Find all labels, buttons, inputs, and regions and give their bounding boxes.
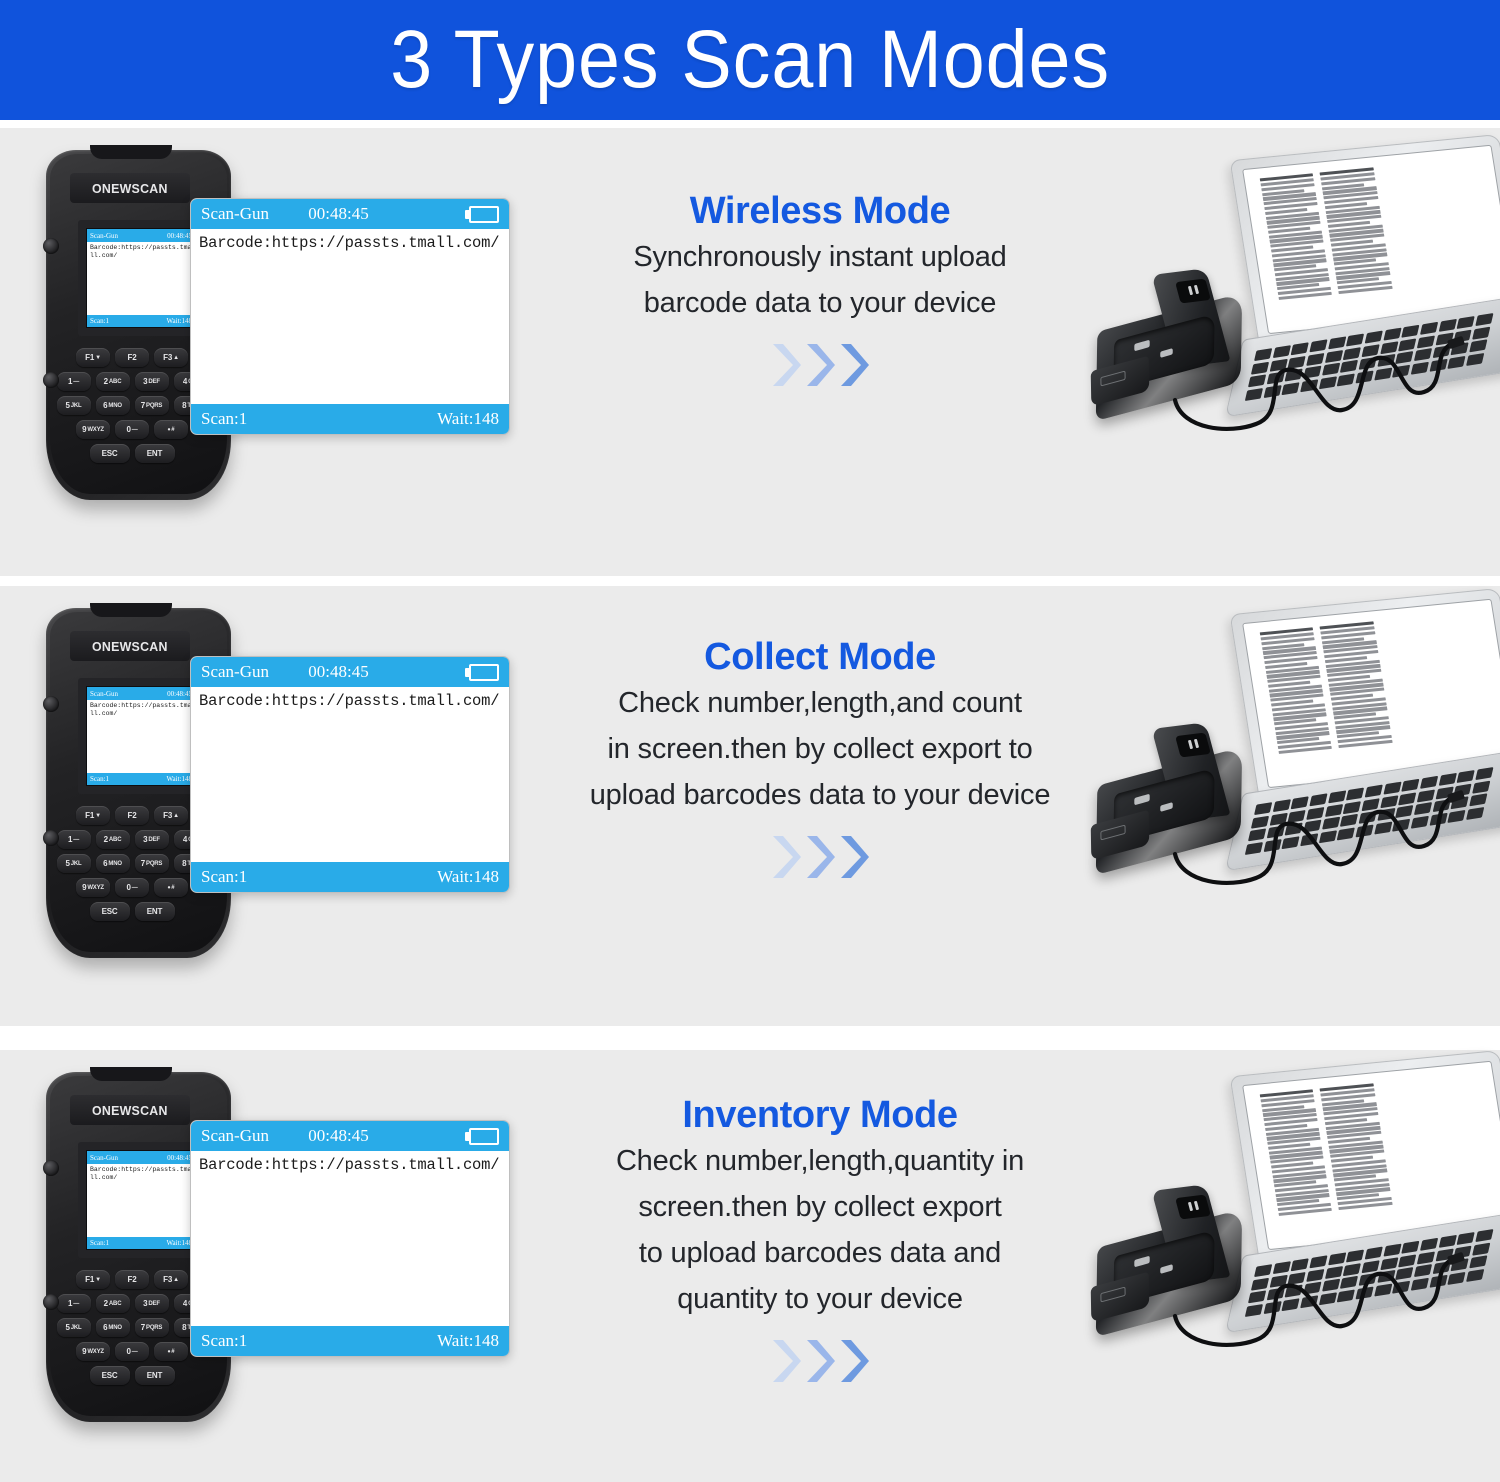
laptop-key (1429, 1275, 1447, 1288)
callout-header: Scan-Gun00:48:45 (191, 199, 509, 229)
device-lcd-barcode-text: Barcode:https://passts.tmall.com/ (87, 1164, 195, 1184)
key-0[interactable]: 0— (115, 1342, 149, 1361)
key-1[interactable]: 1— (57, 372, 91, 391)
key-label: 5 (66, 1323, 70, 1332)
enlarged-screen-callout: Scan-Gun00:48:45Barcode:https://passts.t… (190, 1120, 510, 1357)
barcode-scanner-device: ONEWSCANScan-Gun00:48:45Barcode:https://… (38, 150, 508, 550)
laptop-key (1328, 790, 1346, 803)
laptop-key (1343, 347, 1361, 360)
laptop-key (1447, 356, 1465, 369)
key-label: 8 (182, 859, 186, 868)
laptop-key (1355, 370, 1373, 383)
key-9[interactable]: 9WXYZ (76, 420, 110, 439)
callout-footer: Scan:1Wait:148 (191, 1326, 509, 1356)
laptop-cradle-scene (1080, 1054, 1500, 1482)
chevron-right-icon (839, 1338, 869, 1384)
key-sublabel: PQRS (146, 861, 162, 867)
laptop-key (1374, 821, 1392, 834)
key-7[interactable]: 7PQRS (135, 854, 169, 873)
device-lcd-time: 00:48:45 (167, 690, 192, 698)
key-6[interactable]: 6MNO (96, 1318, 130, 1337)
laptop-key (1377, 1270, 1395, 1283)
laptop-key (1361, 1260, 1379, 1273)
key-3[interactable]: 3DEF (135, 830, 169, 849)
key-label: 9 (82, 1347, 86, 1356)
laptop-key (1358, 811, 1376, 824)
key-sublabel: MNO (108, 1325, 121, 1331)
key-sublabel: ABC (109, 379, 121, 385)
chevron-arrows (771, 342, 869, 388)
key-F2[interactable]: F2 (115, 806, 149, 825)
battery-full-icon (465, 1128, 499, 1145)
laptop-key (1420, 322, 1438, 335)
laptop-key (1325, 804, 1343, 817)
device-lcd-scan-count: Scan:1 (90, 775, 109, 783)
mode-description-line: Check number,length,quantity in (616, 1138, 1024, 1184)
laptop-key (1355, 1286, 1373, 1299)
laptop-key (1346, 787, 1364, 800)
laptop-key (1401, 1241, 1419, 1254)
laptop-key (1457, 1232, 1475, 1245)
laptop-key (1438, 773, 1456, 786)
laptop-key (1392, 819, 1410, 832)
screw-icon (43, 238, 59, 254)
key-sublabel: — (132, 427, 138, 433)
key-F2[interactable]: F2 (115, 348, 149, 367)
key-sublabel: ▲ (173, 1277, 179, 1283)
key-1[interactable]: 1— (57, 830, 91, 849)
cradle-dock-slot (1175, 733, 1211, 758)
cradle-dock-slot (1175, 1195, 1211, 1220)
laptop-key (1414, 802, 1432, 815)
key-ESC[interactable]: ESC (90, 1366, 130, 1385)
key-label: 2 (104, 377, 108, 386)
laptop-key (1303, 366, 1321, 379)
mode-description: Check number,length,quantity inscreen.th… (616, 1138, 1024, 1322)
laptop-key (1343, 801, 1361, 814)
key-label: 5 (66, 859, 70, 868)
brand-plate: ONEWSCAN (70, 173, 190, 203)
laptop-key (1414, 348, 1432, 361)
device-lcd-wait-count: Wait:148 (167, 317, 193, 325)
key-[interactable]: •# (154, 1342, 188, 1361)
keypad-row: F1▼F2F3▲ (62, 806, 202, 825)
key-label: • (168, 425, 171, 434)
laptop-key (1411, 1278, 1429, 1291)
mode-text-column: Inventory ModeCheck number,length,quanti… (540, 1092, 1100, 1384)
laptop-key (1472, 326, 1490, 339)
callout-screen-time: 00:48:45 (308, 662, 427, 682)
key-6[interactable]: 6MNO (96, 854, 130, 873)
chevron-right-icon (805, 1338, 835, 1384)
brand-logo-text: ONEWSCAN (92, 639, 168, 654)
screw-icon (43, 372, 59, 388)
key-[interactable]: •# (154, 420, 188, 439)
key-label: F2 (128, 353, 137, 362)
callout-screen-title: Scan-Gun (201, 1126, 308, 1146)
key-label: 9 (82, 883, 86, 892)
laptop-key (1361, 344, 1379, 357)
laptop-key (1337, 1289, 1355, 1302)
callout-wait-count: Wait:148 (437, 409, 499, 429)
battery-full-icon (465, 206, 499, 223)
key-5[interactable]: 5JKL (57, 396, 91, 415)
laptop-key (1306, 353, 1324, 366)
laptop-key (1322, 817, 1340, 830)
laptop-key (1466, 353, 1484, 366)
laptop-key (1303, 820, 1321, 833)
mode-panel-wireless: ONEWSCANScan-Gun00:48:45Barcode:https://… (0, 128, 1500, 576)
mode-description-line: Check number,length,and count (590, 680, 1051, 726)
laptop-key (1398, 338, 1416, 351)
laptop-key (1411, 362, 1429, 375)
callout-screen-time: 00:48:45 (308, 1126, 427, 1146)
laptop-key (1466, 807, 1484, 820)
key-sublabel: DEF (148, 1301, 159, 1307)
key-label: ESC (102, 449, 118, 458)
keypad-row: 1—2ABC3DEF4GHI (62, 830, 202, 849)
key-ENT[interactable]: ENT (135, 902, 175, 921)
key-label: ESC (102, 907, 118, 916)
laptop-key (1401, 325, 1419, 338)
key-label: ENT (147, 449, 162, 458)
key-9[interactable]: 9WXYZ (76, 878, 110, 897)
callout-footer: Scan:1Wait:148 (191, 862, 509, 892)
brand-logo-text: ONEWSCAN (92, 1103, 168, 1118)
device-lcd-header: Scan-Gun00:48:45 (87, 687, 195, 700)
laptop-key (1469, 1256, 1487, 1269)
key-2[interactable]: 2ABC (96, 372, 130, 391)
key-label: ESC (102, 1371, 118, 1380)
key-9[interactable]: 9WXYZ (76, 1342, 110, 1361)
chevron-arrows (771, 1338, 869, 1384)
key-sublabel: ▼ (95, 355, 101, 361)
laptop-key (1288, 355, 1306, 368)
laptop-key (1365, 785, 1383, 798)
laptop-key (1282, 1298, 1300, 1311)
laptop-key (1365, 331, 1383, 344)
laptop-key (1457, 770, 1475, 783)
key-ESC[interactable]: ESC (90, 444, 130, 463)
laptop-key (1340, 1276, 1358, 1289)
device-lcd-title: Scan-Gun (90, 690, 118, 698)
laptop-key (1383, 782, 1401, 795)
keypad-row: F1▼F2F3▲ (62, 348, 202, 367)
callout-wait-count: Wait:148 (437, 867, 499, 887)
laptop-key (1300, 833, 1318, 846)
key-6[interactable]: 6MNO (96, 396, 130, 415)
key-sublabel: — (73, 837, 79, 843)
mode-description: Check number,length,and countin screen.t… (590, 680, 1051, 818)
laptop-key (1469, 794, 1487, 807)
key-F3[interactable]: F3▲ (154, 348, 188, 367)
key-label: F3 (163, 353, 172, 362)
keypad-row: F1▼F2F3▲ (62, 1270, 202, 1289)
callout-header: Scan-Gun00:48:45 (191, 657, 509, 687)
device-lcd-header: Scan-Gun00:48:45 (87, 229, 195, 242)
key-label: 6 (103, 1323, 107, 1332)
callout-screen-time: 00:48:45 (308, 204, 427, 224)
laptop-key (1447, 810, 1465, 823)
laptop-key (1466, 1269, 1484, 1282)
device-lcd-scan-count: Scan:1 (90, 1239, 109, 1247)
laptop-key (1337, 827, 1355, 840)
mode-description-line: Synchronously instant upload (633, 234, 1006, 280)
laptop-key (1374, 1283, 1392, 1296)
key-label: 7 (141, 401, 145, 410)
key-label: F1 (85, 353, 94, 362)
laptop-key (1417, 1251, 1435, 1264)
key-0[interactable]: 0— (115, 420, 149, 439)
key-label: 4 (183, 835, 187, 844)
key-ESC[interactable]: ESC (90, 902, 130, 921)
key-ENT[interactable]: ENT (135, 1366, 175, 1385)
laptop-key (1346, 1249, 1364, 1262)
chevron-right-icon (839, 342, 869, 388)
mode-title: Inventory Mode (682, 1092, 957, 1138)
laptop-key (1377, 808, 1395, 821)
laptop-key (1417, 789, 1435, 802)
key-sublabel: — (73, 1301, 79, 1307)
keypad-row: 5JKL6MNO7PQRS8TUV (62, 1318, 202, 1337)
key-label: F2 (128, 1275, 137, 1284)
laptop-key (1291, 1258, 1309, 1271)
key-F1[interactable]: F1▼ (76, 1270, 110, 1289)
laptop-key (1322, 1279, 1340, 1292)
laptop-key (1469, 340, 1487, 353)
spreadsheet-column (1320, 167, 1394, 299)
key-1[interactable]: 1— (57, 1294, 91, 1313)
key-sublabel: MNO (108, 403, 121, 409)
key-label: 0 (126, 425, 130, 434)
screw-icon (43, 696, 59, 712)
laptop-key (1358, 357, 1376, 370)
key-F3[interactable]: F3▲ (154, 806, 188, 825)
key-sublabel: WXYZ (87, 427, 104, 433)
key-3[interactable]: 3DEF (135, 372, 169, 391)
laptop-key (1432, 345, 1450, 358)
laptop-key (1285, 1285, 1303, 1298)
key-sublabel: PQRS (146, 403, 162, 409)
laptop-key (1401, 779, 1419, 792)
key-ENT[interactable]: ENT (135, 444, 175, 463)
key-sublabel: ▼ (95, 813, 101, 819)
laptop-key (1420, 776, 1438, 789)
key-label: 7 (141, 859, 145, 868)
key-label: F3 (163, 811, 172, 820)
laptop-key (1472, 780, 1490, 793)
laptop-key (1374, 367, 1392, 380)
key-sublabel: ABC (109, 837, 121, 843)
key-label: 9 (82, 425, 86, 434)
keypad-row: 1—2ABC3DEF4GHI (62, 372, 202, 391)
key-7[interactable]: 7PQRS (135, 396, 169, 415)
callout-barcode-text: Barcode:https://passts.tmall.com/ (191, 687, 509, 862)
mode-text-column: Wireless ModeSynchronously instant uploa… (540, 188, 1100, 388)
keypad-row: ESCENT (62, 444, 202, 463)
laptop-key (1291, 342, 1309, 355)
laptop-key (1438, 319, 1456, 332)
device-lcd-footer: Scan:1Wait:148 (87, 1237, 195, 1249)
laptop-key (1309, 339, 1327, 352)
laptop-key (1411, 816, 1429, 829)
key-label: 7 (141, 1323, 145, 1332)
spreadsheet-column (1320, 621, 1394, 753)
key-F1[interactable]: F1▼ (76, 348, 110, 367)
key-sublabel: MNO (108, 861, 121, 867)
device-lcd-time: 00:48:45 (167, 1154, 192, 1162)
key-label: F1 (85, 811, 94, 820)
mode-panel-collect: ONEWSCANScan-Gun00:48:45Barcode:https://… (0, 586, 1500, 1026)
key-F2[interactable]: F2 (115, 1270, 149, 1289)
laptop-key (1319, 376, 1337, 389)
laptop-key (1300, 379, 1318, 392)
laptop-key (1392, 365, 1410, 378)
key-[interactable]: •# (154, 878, 188, 897)
device-lcd-wait-count: Wait:148 (167, 1239, 193, 1247)
laptop-key (1306, 1269, 1324, 1282)
panel-inner: ONEWSCANScan-Gun00:48:45Barcode:https://… (0, 128, 1500, 576)
key-F1[interactable]: F1▼ (76, 806, 110, 825)
mode-description-line: barcode data to your device (633, 280, 1006, 326)
keypad-row: 1—2ABC3DEF4GHI (62, 1294, 202, 1313)
laptop-key (1285, 823, 1303, 836)
callout-scan-count: Scan:1 (201, 1331, 247, 1351)
key-label: ENT (147, 907, 162, 916)
key-5[interactable]: 5JKL (57, 854, 91, 873)
chevron-right-icon (839, 834, 869, 880)
device-lcd-scan-count: Scan:1 (90, 317, 109, 325)
key-label: 1 (68, 1299, 72, 1308)
laptop-key (1306, 807, 1324, 820)
laptop-key (1398, 792, 1416, 805)
laptop-key (1300, 1295, 1318, 1308)
key-5[interactable]: 5JKL (57, 1318, 91, 1337)
laptop-key (1337, 373, 1355, 386)
key-label: 1 (68, 377, 72, 386)
scanner-top-notch (90, 145, 172, 159)
mode-text-column: Collect ModeCheck number,length,and coun… (540, 634, 1100, 880)
scanner-charging-cradle (1090, 1186, 1280, 1326)
laptop-key (1361, 798, 1379, 811)
laptop-key (1457, 316, 1475, 329)
device-lcd-time: 00:48:45 (167, 232, 192, 240)
key-sublabel: WXYZ (87, 885, 104, 891)
laptop-key (1340, 360, 1358, 373)
enlarged-screen-callout: Scan-Gun00:48:45Barcode:https://passts.t… (190, 198, 510, 435)
device-lcd-footer: Scan:1Wait:148 (87, 773, 195, 785)
key-label: 5 (66, 401, 70, 410)
laptop-key (1395, 1267, 1413, 1280)
device-lcd-barcode-text: Barcode:https://passts.tmall.com/ (87, 700, 195, 720)
laptop-cradle-scene (1080, 592, 1500, 1032)
chevron-right-icon (805, 342, 835, 388)
laptop-key (1414, 1264, 1432, 1277)
keypad: F1▼F2F3▲1—2ABC3DEF4GHI5JKL6MNO7PQRS8TUV9… (62, 1270, 202, 1390)
key-sublabel: # (171, 885, 174, 891)
brand-plate: ONEWSCAN (70, 1095, 190, 1125)
key-sublabel: ABC (109, 1301, 121, 1307)
laptop-key (1346, 333, 1364, 346)
mode-description-line: in screen.then by collect export to (590, 726, 1051, 772)
key-sublabel: DEF (148, 379, 159, 385)
chevron-right-icon (771, 834, 801, 880)
key-label: F3 (163, 1275, 172, 1284)
laptop-key (1392, 1281, 1410, 1294)
keypad-row: 9WXYZ0—•# (62, 878, 202, 897)
callout-footer: Scan:1Wait:148 (191, 404, 509, 434)
spreadsheet-column (1320, 1083, 1394, 1215)
chevron-right-icon (771, 1338, 801, 1384)
brand-logo-text: ONEWSCAN (92, 181, 168, 196)
laptop-key (1325, 1266, 1343, 1279)
key-0[interactable]: 0— (115, 878, 149, 897)
laptop-key (1472, 1242, 1490, 1255)
key-sublabel: ▲ (173, 355, 179, 361)
key-label: ENT (147, 1371, 162, 1380)
key-F3[interactable]: F3▲ (154, 1270, 188, 1289)
laptop-key (1395, 351, 1413, 364)
scanner-top-notch (90, 1067, 172, 1081)
laptop-key (1319, 830, 1337, 843)
key-sublabel: PQRS (146, 1325, 162, 1331)
key-2[interactable]: 2ABC (96, 830, 130, 849)
mode-title: Collect Mode (704, 634, 936, 680)
laptop-key (1417, 335, 1435, 348)
key-sublabel: ▼ (95, 1277, 101, 1283)
key-label: 1 (68, 835, 72, 844)
laptop-cradle-scene (1080, 138, 1500, 586)
key-label: 0 (126, 883, 130, 892)
laptop-key (1420, 1238, 1438, 1251)
laptop-key (1358, 1273, 1376, 1286)
laptop-key (1282, 836, 1300, 849)
mode-panel-inventory: ONEWSCANScan-Gun00:48:45Barcode:https://… (0, 1050, 1500, 1482)
header-banner: 3 Types Scan Modes (0, 0, 1500, 120)
key-label: 6 (103, 401, 107, 410)
key-label: 3 (143, 1299, 147, 1308)
battery-full-icon (465, 664, 499, 681)
laptop-key (1322, 363, 1340, 376)
key-label: 2 (104, 1299, 108, 1308)
device-lcd-title: Scan-Gun (90, 1154, 118, 1162)
key-label: 4 (183, 1299, 187, 1308)
key-7[interactable]: 7PQRS (135, 1318, 169, 1337)
key-sublabel: JKL (71, 861, 82, 867)
keypad-row: 9WXYZ0—•# (62, 1342, 202, 1361)
laptop-key (1475, 313, 1493, 326)
chevron-right-icon (805, 834, 835, 880)
key-label: 3 (143, 377, 147, 386)
scanner-charging-cradle (1090, 724, 1280, 864)
keypad-row: ESCENT (62, 1366, 202, 1385)
callout-barcode-text: Barcode:https://passts.tmall.com/ (191, 1151, 509, 1326)
laptop-key (1309, 793, 1327, 806)
key-sublabel: — (132, 885, 138, 891)
key-sublabel: # (171, 1349, 174, 1355)
keypad-row: 5JKL6MNO7PQRS8TUV (62, 396, 202, 415)
laptop-key (1429, 359, 1447, 372)
laptop-key (1285, 369, 1303, 382)
laptop-key (1365, 1247, 1383, 1260)
laptop-key (1282, 382, 1300, 395)
cradle-dock-slot (1175, 279, 1211, 304)
key-3[interactable]: 3DEF (135, 1294, 169, 1313)
key-2[interactable]: 2ABC (96, 1294, 130, 1313)
barcode-scanner-device: ONEWSCANScan-Gun00:48:45Barcode:https://… (38, 608, 508, 1008)
key-label: 4 (183, 377, 187, 386)
mode-description-line: screen.then by collect export (616, 1184, 1024, 1230)
